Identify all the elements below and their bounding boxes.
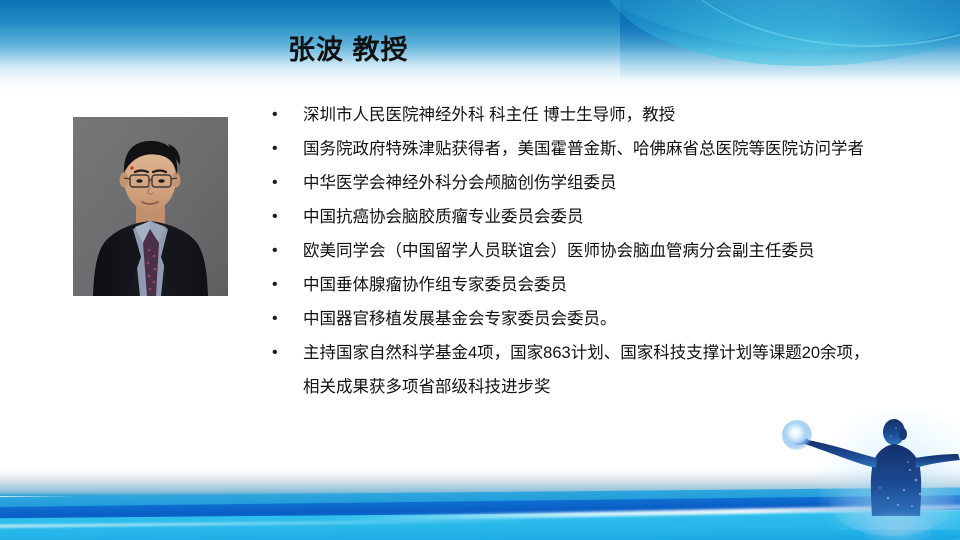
bullet-marker-icon: • (268, 166, 303, 200)
bullet-marker-icon: • (268, 132, 303, 166)
list-item: • 中国抗癌协会脑胶质瘤专业委员会委员 (268, 200, 958, 234)
page-title: 张波 教授 (288, 28, 409, 67)
bullet-marker-icon: • (268, 234, 303, 268)
credentials-list: • 深圳市人民医院神经外科 科主任 博士生导师，教授 • 国务院政府特殊津贴获得… (268, 98, 958, 404)
bullet-marker-icon: • (268, 98, 303, 132)
list-item-text: 主持国家自然科学基金4项，国家863计划、国家科技支撑计划等课题20余项， 相关… (303, 336, 958, 404)
glowing-orb-icon (782, 420, 812, 450)
list-item-text: 中国抗癌协会脑胶质瘤专业委员会委员 (303, 200, 958, 234)
list-item: • 主持国家自然科学基金4项，国家863计划、国家科技支撑计划等课题20余项， … (268, 336, 958, 404)
portrait-photo-image (73, 117, 228, 296)
list-item: • 中华医学会神经外科分会颅脑创伤学组委员 (268, 166, 958, 200)
list-item: • 国务院政府特殊津贴获得者，美国霍普金斯、哈佛麻省总医院等医院访问学者 (268, 132, 958, 166)
list-item-text: 深圳市人民医院神经外科 科主任 博士生导师，教授 (303, 98, 958, 132)
list-item-text: 国务院政府特殊津贴获得者，美国霍普金斯、哈佛麻省总医院等医院访问学者 (303, 132, 958, 166)
portrait-photo (73, 117, 228, 296)
list-item: • 中国垂体腺瘤协作组专家委员会委员 (268, 268, 958, 302)
list-item-text: 中华医学会神经外科分会颅脑创伤学组委员 (303, 166, 958, 200)
list-item: • 中国器官移植发展基金会专家委员会委员。 (268, 302, 958, 336)
list-item-text: 中国器官移植发展基金会专家委员会委员。 (303, 302, 958, 336)
list-item: • 深圳市人民医院神经外科 科主任 博士生导师，教授 (268, 98, 958, 132)
bullet-marker-icon: • (268, 336, 303, 370)
bullet-marker-icon: • (268, 200, 303, 234)
list-item-text: 欧美同学会（中国留学人员联谊会）医师协会脑血管病分会副主任委员 (303, 234, 958, 268)
silhouette-figure-decoration (760, 410, 960, 540)
bullet-marker-icon: • (268, 268, 303, 302)
list-item: • 欧美同学会（中国留学人员联谊会）医师协会脑血管病分会副主任委员 (268, 234, 958, 268)
presentation-slide: 张波 教授 (0, 0, 960, 540)
bullet-marker-icon: • (268, 302, 303, 336)
list-item-text: 中国垂体腺瘤协作组专家委员会委员 (303, 268, 958, 302)
